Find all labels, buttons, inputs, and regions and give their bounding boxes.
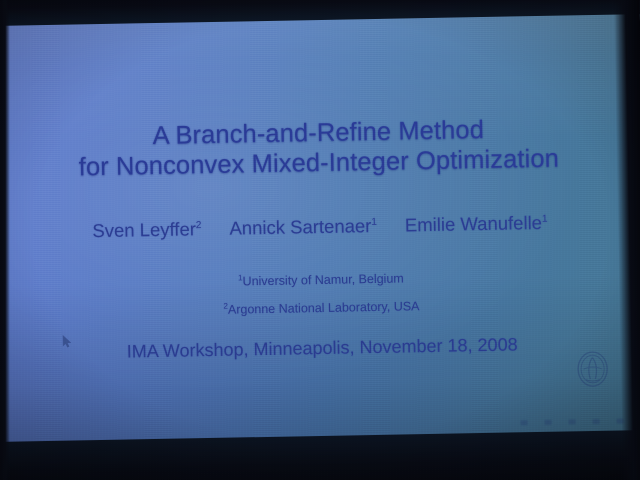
camera-scanlines: [0, 10, 640, 446]
screen-edge-left: [0, 0, 10, 480]
projected-slide-photo: A Branch-and-Refine Method for Nonconvex…: [0, 0, 640, 480]
projection-screen: A Branch-and-Refine Method for Nonconvex…: [0, 10, 640, 446]
